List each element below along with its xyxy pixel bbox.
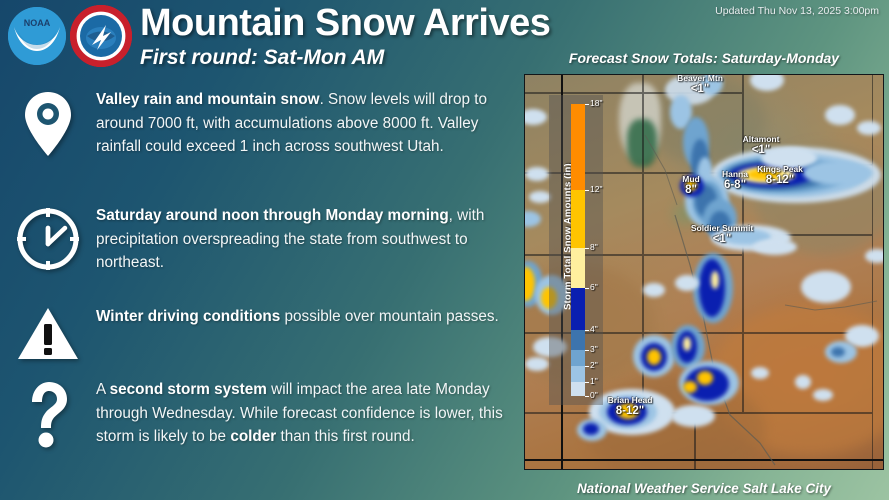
list-item-lead: second storm system — [110, 381, 267, 398]
list-item-lead-2: colder — [230, 428, 276, 445]
map-title: Forecast Snow Totals: Saturday-Monday — [524, 50, 884, 66]
nws-logo-icon — [70, 5, 132, 67]
colorbar-segment-12 — [571, 190, 585, 248]
title-block: Mountain Snow Arrives First round: Sat-M… — [140, 2, 550, 71]
colorbar-segment-6 — [571, 288, 585, 330]
map-label-altamont: Altamont <1" — [721, 134, 801, 156]
bullet-list: Valley rain and mountain snow. Snow leve… — [0, 80, 520, 490]
noaa-logo-text: NOAA — [24, 18, 51, 28]
list-item-body: possible over mountain passes. — [280, 308, 499, 325]
colorbar-segment-3 — [571, 350, 585, 366]
colorbar-segment-1 — [571, 382, 585, 396]
list-item: Valley rain and mountain snow. Snow leve… — [0, 88, 520, 159]
list-item-text: A second storm system will impact the ar… — [96, 378, 520, 450]
colorbar-gradient: 18" 12" 8" 6" 4" 3" 2" — [571, 104, 585, 396]
list-item-text: Valley rain and mountain snow. Snow leve… — [96, 88, 520, 159]
map-label-brian-head: Brian Head 8-12" — [587, 395, 673, 417]
list-item-prefix: A — [96, 381, 110, 398]
colorbar-tick: 8" — [585, 248, 625, 249]
colorbar-segment-18 — [571, 104, 585, 190]
map-label-soldier-summit: Soldier Summit <1" — [667, 223, 777, 245]
page-title: Mountain Snow Arrives — [140, 2, 550, 44]
colorbar-tick: 18" — [585, 104, 625, 105]
list-item: Winter driving conditions possible over … — [0, 305, 520, 361]
list-item-lead: Winter driving conditions — [96, 308, 280, 325]
list-item: A second storm system will impact the ar… — [0, 378, 520, 450]
warning-triangle-icon — [0, 305, 96, 361]
colorbar-tick: 12" — [585, 190, 625, 191]
list-item: Saturday around noon through Monday morn… — [0, 204, 520, 275]
updated-timestamp: Updated Thu Nov 13, 2025 3:00pm — [715, 5, 879, 17]
list-item-lead: Valley rain and mountain snow — [96, 91, 320, 108]
noaa-logo-icon: NOAA — [8, 7, 66, 65]
colorbar-tick: 6" — [585, 288, 625, 289]
list-item-lead: Saturday around noon through Monday morn… — [96, 207, 449, 224]
colorbar-segment-2 — [571, 366, 585, 382]
list-item-body-2: than this first round. — [276, 428, 415, 445]
colorbar-tick: 4" — [585, 330, 625, 331]
map-caption: National Weather Service Salt Lake City — [524, 481, 884, 496]
colorbar-segment-4 — [571, 330, 585, 350]
colorbar-tick: 2" — [585, 366, 625, 367]
list-item-text: Winter driving conditions possible over … — [96, 305, 509, 361]
colorbar-tick: 3" — [585, 350, 625, 351]
colorbar-legend: Storm Total Snow Amounts (in) 18" 12" 8" — [549, 95, 603, 405]
map-pin-icon — [0, 88, 96, 159]
map-label-beaver-mtn: Beaver Mtn <1" — [660, 74, 740, 95]
snow-totals-map[interactable]: Storm Total Snow Amounts (in) 18" 12" 8" — [524, 74, 884, 470]
list-item-text: Saturday around noon through Monday morn… — [96, 204, 520, 275]
colorbar-tick: 1" — [585, 382, 625, 383]
map-label-mud: Mud 8" — [669, 174, 713, 196]
question-mark-icon — [0, 378, 96, 450]
page-subtitle: First round: Sat-Mon AM — [140, 45, 550, 71]
clock-icon — [0, 204, 96, 275]
colorbar-segment-8 — [571, 248, 585, 288]
map-panel: Forecast Snow Totals: Saturday-Monday — [524, 50, 884, 498]
